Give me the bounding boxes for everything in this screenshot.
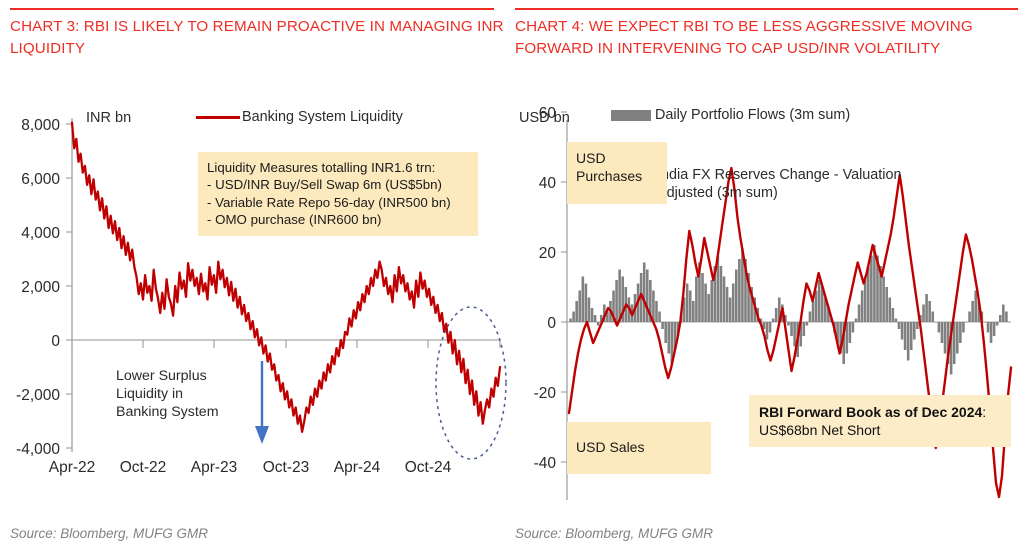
chart-4-source: Source: Bloomberg, MUFG GMR bbox=[515, 526, 713, 541]
y-tick-marks bbox=[66, 124, 72, 448]
chart-4-legend-bars[interactable]: Daily Portfolio Flows (3m sum) bbox=[611, 106, 850, 124]
svg-text:Oct-23: Oct-23 bbox=[263, 459, 310, 476]
chart-4-axis-unit: USD bn bbox=[519, 110, 570, 126]
svg-text:40: 40 bbox=[539, 175, 557, 192]
svg-text:8,000: 8,000 bbox=[21, 117, 60, 134]
dual-chart-page: CHART 3: RBI IS LIKELY TO REMAIN PROACTI… bbox=[0, 0, 1022, 553]
rbi-forward-book-note-bold: RBI Forward Book as of Dec 2024 bbox=[759, 404, 982, 420]
chart-3-source: Source: Bloomberg, MUFG GMR bbox=[10, 526, 208, 541]
svg-text:Oct-24: Oct-24 bbox=[405, 459, 452, 476]
chart-3-axis-unit: INR bn bbox=[86, 110, 131, 126]
svg-text:20: 20 bbox=[539, 245, 557, 262]
legend-line-swatch bbox=[196, 116, 240, 119]
x-tick-marks bbox=[72, 340, 500, 348]
svg-text:0: 0 bbox=[547, 315, 556, 332]
y-tick-labels: 8,000 6,000 4,000 2,000 0 -2,000 -4,000 bbox=[16, 117, 60, 458]
chart-4-legend-line-label: India FX Reserves Change - Valuation Adj… bbox=[657, 166, 902, 202]
svg-text:-4,000: -4,000 bbox=[16, 441, 60, 458]
lower-surplus-callout: Lower Surplus Liquidity in Banking Syste… bbox=[116, 368, 219, 422]
svg-text:Apr-22: Apr-22 bbox=[49, 459, 96, 476]
usd-sales-zone-label: USD Sales bbox=[567, 422, 711, 474]
chart-3-title: CHART 3: RBI IS LIKELY TO REMAIN PROACTI… bbox=[10, 16, 505, 59]
panel-top-rule bbox=[10, 8, 494, 10]
chart-4-panel: CHART 4: WE EXPECT RBI TO BE LESS AGGRES… bbox=[511, 0, 1022, 553]
svg-text:-40: -40 bbox=[534, 455, 557, 472]
chart-3-legend-label: Banking System Liquidity bbox=[242, 108, 403, 126]
legend-bar-swatch bbox=[611, 110, 651, 121]
svg-text:6,000: 6,000 bbox=[21, 171, 60, 188]
svg-text:-2,000: -2,000 bbox=[16, 387, 60, 404]
svg-text:2,000: 2,000 bbox=[21, 279, 60, 296]
down-arrow-icon bbox=[255, 361, 269, 444]
chart-3-legend-liquidity[interactable]: Banking System Liquidity bbox=[196, 108, 403, 126]
svg-text:0: 0 bbox=[51, 333, 60, 350]
chart-4-plot: 60 40 20 0 -20 -40 -60 Jan-12 bbox=[511, 100, 1022, 500]
liquidity-measures-note: Liquidity Measures totalling INR1.6 trn:… bbox=[198, 152, 478, 236]
svg-text:Apr-24: Apr-24 bbox=[334, 459, 381, 476]
svg-text:Oct-22: Oct-22 bbox=[120, 459, 167, 476]
chart-4-legend-bars-label: Daily Portfolio Flows (3m sum) bbox=[655, 106, 850, 124]
chart-3-plot: 8,000 6,000 4,000 2,000 0 -2,000 -4,000 … bbox=[0, 100, 511, 500]
usd-purchases-zone-label: USD Purchases bbox=[567, 142, 667, 204]
x-tick-labels: Apr-22 Oct-22 Apr-23 Oct-23 Apr-24 Oct-2… bbox=[49, 459, 452, 476]
chart-3-panel: CHART 3: RBI IS LIKELY TO REMAIN PROACTI… bbox=[0, 0, 511, 553]
svg-text:Apr-23: Apr-23 bbox=[191, 459, 238, 476]
chart-4-title: CHART 4: WE EXPECT RBI TO BE LESS AGGRES… bbox=[515, 16, 1016, 59]
svg-text:4,000: 4,000 bbox=[21, 225, 60, 242]
rbi-forward-book-note: RBI Forward Book as of Dec 2024: US$68bn… bbox=[749, 395, 1011, 447]
panel-top-rule bbox=[515, 8, 1018, 10]
y-tick-labels: 60 40 20 0 -20 -40 -60 bbox=[534, 105, 557, 500]
svg-text:-20: -20 bbox=[534, 385, 557, 402]
